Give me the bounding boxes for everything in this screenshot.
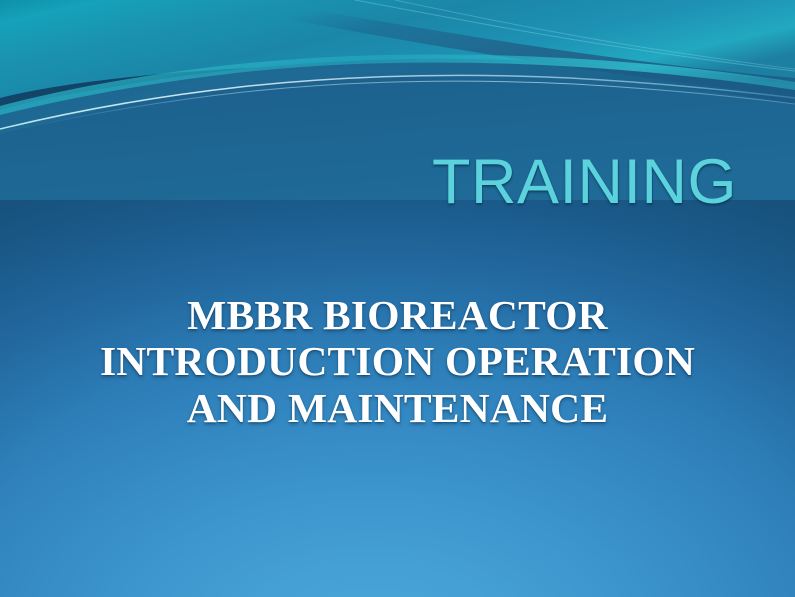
wave-cyan-arc [0,54,795,115]
slide-subtitle-line-2: INTRODUCTION OPERATION [40,338,755,384]
wave-dark-ribbon-secondary [238,0,795,95]
wave-cyan-field [0,0,795,98]
wave-dark-ribbon [0,59,795,134]
wave-filament-upper-right [355,0,795,71]
slide-subtitle-line-3: AND MAINTENANCE [40,385,755,431]
presentation-slide: TRAINING MBBR BIOREACTOR INTRODUCTION OP… [0,0,795,597]
slide-subtitle: MBBR BIOREACTOR INTRODUCTION OPERATION A… [40,292,755,431]
wave-filament-upper-right-2 [395,0,795,69]
slide-subtitle-line-1: MBBR BIOREACTOR [40,292,755,338]
wave-filament-primary [0,75,795,129]
slide-title: TRAINING [0,150,737,214]
wave-filament-secondary [0,81,795,133]
